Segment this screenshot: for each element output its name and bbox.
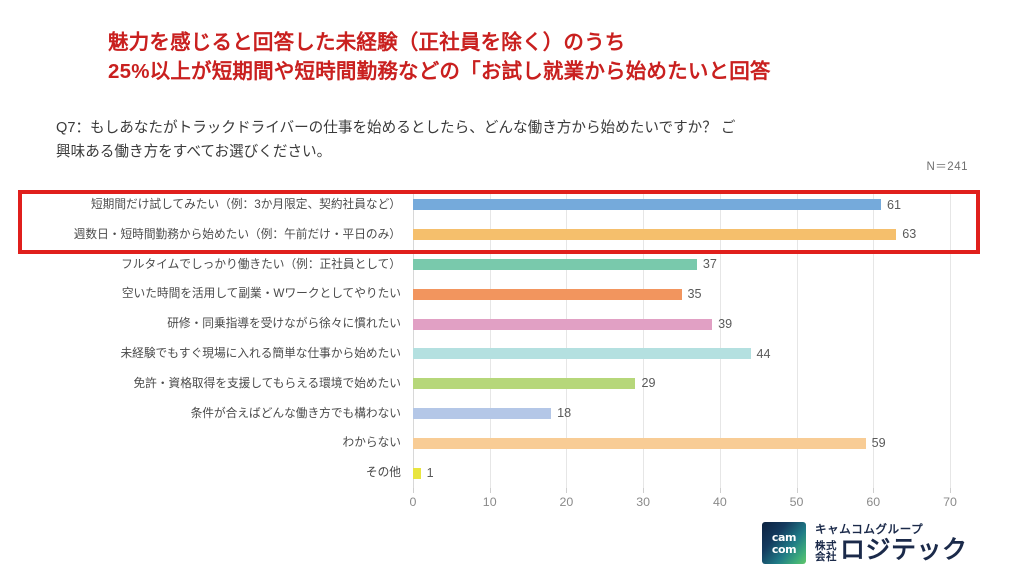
x-tick-mark-0	[413, 488, 414, 493]
bar-value-label: 39	[718, 318, 732, 331]
headline: 魅力を感じると回答した未経験（正社員を除く）のうち 25%以上が短期間や短時間勤…	[108, 28, 968, 86]
chart-row: 条件が合えばどんな働き方でも構わない18	[413, 399, 950, 429]
bar	[413, 348, 751, 359]
x-tick-label-40: 40	[713, 495, 727, 509]
x-tick-mark-40	[720, 488, 721, 493]
chart-row: 短期間だけ試してみたい（例：3か月限定、契約社員など）61	[413, 190, 950, 220]
logo-company-name: ロジテック	[840, 537, 968, 563]
chart-row: 研修・同乗指導を受けながら徐々に慣れたい39	[413, 309, 950, 339]
bar-value-label: 63	[902, 228, 916, 241]
chart-row: わからない59	[413, 428, 950, 458]
headline-line-2: 25%以上が短期間や短時間勤務などの「お試し就業から始めたいと回答	[108, 57, 968, 86]
logo-group-name: キャムコムグループ	[815, 523, 968, 537]
camcom-logo-icon: cam com	[762, 522, 806, 564]
x-tick-label-10: 10	[483, 495, 497, 509]
category-label: フルタイムでしっかり働きたい（例：正社員として）	[53, 259, 401, 271]
bar	[413, 319, 712, 330]
x-tick-label-20: 20	[560, 495, 574, 509]
bar	[413, 289, 682, 300]
category-label: 短期間だけ試してみたい（例：3か月限定、契約社員など）	[53, 199, 401, 211]
category-label: 週数日・短時間勤務から始めたい（例：午前だけ・平日のみ）	[53, 229, 401, 241]
gridline-70	[950, 190, 951, 488]
bar	[413, 259, 697, 270]
x-tick-label-50: 50	[790, 495, 804, 509]
bar	[413, 408, 551, 419]
bar-value-label: 37	[703, 258, 717, 271]
bar-value-label: 44	[757, 348, 771, 361]
category-label: 条件が合えばどんな働き方でも構わない	[53, 408, 401, 420]
category-label: 研修・同乗指導を受けながら徐々に慣れたい	[53, 318, 401, 330]
question-text: Q7：もしあなたがトラックドライバーの仕事を始めるとしたら、どんな働き方から始め…	[56, 116, 966, 164]
sample-size-label: N＝241	[927, 158, 969, 174]
category-label: わからない	[53, 437, 401, 449]
x-tick-label-0: 0	[410, 495, 417, 509]
x-tick-label-60: 60	[866, 495, 880, 509]
chart-row: その他1	[413, 458, 950, 488]
category-label: 空いた時間を活用して副業・Wワークとしてやりたい	[53, 288, 401, 300]
logo-mark-line-2: com	[772, 544, 796, 555]
question-line-2: 興味ある働き方をすべてお選びください。	[56, 140, 966, 164]
bar	[413, 378, 635, 389]
bar-value-label: 1	[427, 467, 434, 480]
x-tick-label-70: 70	[943, 495, 957, 509]
logo-text: キャムコムグループ 株式 会社 ロジテック	[815, 523, 968, 563]
chart-row: 空いた時間を活用して副業・Wワークとしてやりたい35	[413, 279, 950, 309]
logo-kabushikigaisha: 株式 会社	[815, 541, 837, 563]
company-logo: cam com キャムコムグループ 株式 会社 ロジテック	[762, 522, 968, 564]
plot-area: 短期間だけ試してみたい（例：3か月限定、契約社員など）61週数日・短時間勤務から…	[413, 190, 950, 488]
bar-value-label: 35	[688, 288, 702, 301]
bar-value-label: 29	[641, 377, 655, 390]
chart-rows: 短期間だけ試してみたい（例：3か月限定、契約社員など）61週数日・短時間勤務から…	[413, 190, 950, 488]
question-line-1: Q7：もしあなたがトラックドライバーの仕事を始めるとしたら、どんな働き方から始め…	[56, 116, 966, 140]
x-tick-label-30: 30	[636, 495, 650, 509]
bar-value-label: 18	[557, 407, 571, 420]
x-tick-mark-60	[873, 488, 874, 493]
headline-line-1: 魅力を感じると回答した未経験（正社員を除く）のうち	[108, 28, 968, 57]
chart-row: 免許・資格取得を支援してもらえる環境で始めたい29	[413, 369, 950, 399]
x-tick-mark-30	[643, 488, 644, 493]
chart-row: 週数日・短時間勤務から始めたい（例：午前だけ・平日のみ）63	[413, 220, 950, 250]
bar-value-label: 59	[872, 437, 886, 450]
category-label: 未経験でもすぐ現場に入れる簡単な仕事から始めたい	[53, 348, 401, 360]
bar	[413, 229, 896, 240]
x-tick-mark-20	[566, 488, 567, 493]
chart-row: 未経験でもすぐ現場に入れる簡単な仕事から始めたい44	[413, 339, 950, 369]
bar	[413, 438, 866, 449]
logo-kk-bottom: 会社	[815, 552, 837, 563]
x-tick-mark-50	[797, 488, 798, 493]
bar-value-label: 61	[887, 199, 901, 212]
logo-mark-line-1: cam	[772, 532, 796, 543]
x-tick-mark-70	[950, 488, 951, 493]
logo-main: 株式 会社 ロジテック	[815, 537, 968, 563]
x-axis: 010203040506070	[413, 488, 950, 512]
category-label: 免許・資格取得を支援してもらえる環境で始めたい	[53, 378, 401, 390]
bar-chart: 短期間だけ試してみたい（例：3か月限定、契約社員など）61週数日・短時間勤務から…	[0, 190, 1024, 510]
bar	[413, 468, 421, 479]
bar	[413, 199, 881, 210]
x-tick-mark-10	[490, 488, 491, 493]
category-label: その他	[53, 467, 401, 479]
chart-row: フルタイムでしっかり働きたい（例：正社員として）37	[413, 250, 950, 280]
